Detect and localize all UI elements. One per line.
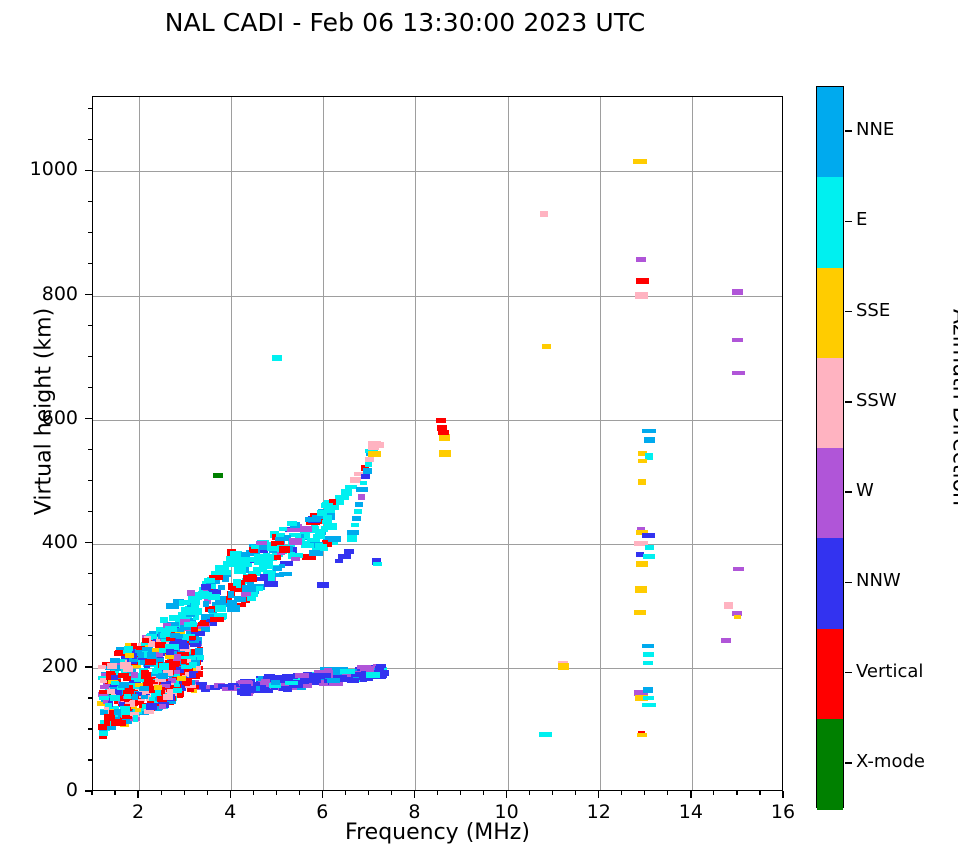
colorbar-title: Azimuth Direction [948, 258, 958, 558]
data-point [732, 338, 743, 342]
colorbar-label-sse: SSE [856, 300, 890, 321]
data-point [643, 652, 654, 657]
data-point [159, 663, 169, 670]
colorbar-label-ssw: SSW [856, 390, 897, 411]
x-tick-label: 2 [103, 801, 173, 823]
colorbar-tick [845, 311, 852, 312]
data-point [733, 567, 744, 571]
data-point [540, 211, 548, 217]
x-tick-minor [368, 791, 369, 795]
data-point [289, 533, 302, 537]
data-point [210, 617, 224, 622]
plot-area [92, 96, 783, 791]
data-point [98, 724, 107, 730]
data-point [166, 603, 179, 609]
x-axis-title: Frequency (MHz) [92, 820, 783, 845]
plot-canvas [93, 97, 782, 790]
data-point [638, 479, 646, 485]
data-point [287, 528, 296, 532]
data-point [238, 680, 252, 684]
data-point [633, 159, 647, 164]
data-point [356, 487, 368, 492]
data-point [247, 596, 256, 601]
x-tick-label: 4 [195, 801, 265, 823]
data-point [265, 562, 272, 569]
data-point [439, 450, 451, 457]
data-point [301, 543, 314, 548]
data-point [634, 610, 646, 615]
data-point [637, 733, 647, 737]
x-tick-label: 12 [564, 801, 634, 823]
data-point [200, 620, 206, 625]
x-tick-label: 16 [748, 801, 818, 823]
data-point [638, 459, 647, 463]
data-point [110, 695, 120, 701]
data-point [203, 601, 209, 607]
data-point [355, 502, 363, 507]
colorbar-segment-ssw [817, 358, 843, 449]
y-tick-minor [88, 728, 92, 729]
x-tick-minor [184, 791, 185, 795]
data-point [259, 545, 267, 550]
data-point [324, 523, 337, 530]
data-point [307, 538, 320, 542]
data-point [352, 516, 361, 521]
data-point [279, 527, 287, 531]
data-point [179, 600, 190, 605]
y-tick-major [85, 170, 92, 171]
data-point [184, 681, 190, 686]
data-point [120, 662, 131, 669]
data-point [181, 659, 187, 664]
data-point [366, 672, 380, 678]
x-tick-label: 10 [472, 801, 542, 823]
data-point [279, 546, 290, 553]
data-point [241, 686, 256, 691]
data-point [243, 575, 257, 582]
colorbar-tick [845, 130, 852, 131]
data-point [309, 550, 323, 556]
data-point [124, 694, 131, 699]
y-tick-label: 600 [8, 407, 78, 429]
x-tick-minor [759, 791, 760, 795]
data-point [347, 535, 357, 542]
x-tick-minor [299, 791, 300, 795]
data-point [141, 674, 150, 679]
data-point [201, 615, 207, 620]
data-point [174, 670, 180, 674]
colorbar-segment-nne [817, 87, 843, 178]
data-point [236, 557, 246, 562]
data-point [161, 629, 168, 634]
data-point [376, 664, 386, 668]
data-point [185, 609, 196, 615]
colorbar-tick [845, 401, 852, 402]
x-tick-major [230, 791, 231, 798]
data-point [254, 554, 265, 560]
grid-line-vertical [692, 97, 693, 790]
y-tick-minor [88, 697, 92, 698]
data-point [114, 709, 121, 715]
x-tick-minor [207, 791, 208, 795]
y-tick-minor [88, 759, 92, 760]
data-point [132, 694, 138, 700]
colorbar-segment-sse [817, 268, 843, 359]
y-tick-minor [88, 511, 92, 512]
grid-line-horizontal [93, 296, 782, 297]
data-point [317, 510, 324, 516]
data-point [208, 609, 214, 613]
data-point [143, 679, 153, 686]
data-point [642, 533, 655, 538]
data-point [271, 680, 280, 685]
data-point [635, 586, 647, 593]
data-point [111, 681, 119, 685]
x-tick-major [506, 791, 507, 798]
colorbar-label-w: W [856, 480, 874, 501]
y-tick-minor [88, 108, 92, 109]
colorbar-segment-x-mode [817, 719, 843, 810]
data-point [368, 451, 381, 457]
x-tick-minor [276, 791, 277, 795]
data-point [118, 682, 129, 688]
y-tick-label: 200 [8, 655, 78, 677]
y-tick-minor [88, 139, 92, 140]
data-point [291, 557, 300, 561]
data-point [107, 663, 117, 669]
data-point [131, 672, 138, 678]
data-point [100, 685, 109, 689]
data-point [105, 703, 112, 707]
x-tick-major [137, 791, 138, 798]
data-point [184, 622, 197, 627]
data-point [317, 582, 329, 588]
y-tick-minor [88, 232, 92, 233]
data-point [187, 590, 195, 596]
grid-line-horizontal [93, 171, 782, 172]
data-point [285, 681, 298, 685]
data-point [138, 652, 144, 658]
colorbar-label-nnw: NNW [856, 570, 901, 591]
data-point [227, 600, 237, 605]
data-point [144, 709, 154, 714]
x-tick-minor [114, 791, 115, 795]
colorbar-label-nne: NNE [856, 119, 894, 140]
data-point [213, 473, 223, 478]
x-tick-major [598, 791, 599, 798]
y-tick-major [85, 542, 92, 543]
data-point [636, 257, 646, 262]
data-point [264, 581, 278, 587]
data-point [345, 485, 357, 489]
colorbar-segment-nnw [817, 538, 843, 629]
x-tick-label: 14 [656, 801, 726, 823]
x-tick-minor [575, 791, 576, 795]
x-tick-label: 8 [379, 801, 449, 823]
data-point [218, 585, 225, 590]
colorbar-segment-vertical [817, 629, 843, 720]
grid-line-vertical [508, 97, 509, 790]
x-tick-minor [736, 791, 737, 795]
data-point [133, 715, 138, 722]
x-tick-minor [483, 791, 484, 795]
x-tick-minor [713, 791, 714, 795]
data-point [217, 570, 231, 575]
y-tick-minor [88, 635, 92, 636]
data-point [146, 703, 157, 710]
x-tick-minor [552, 791, 553, 795]
y-tick-minor [88, 480, 92, 481]
data-point [267, 547, 277, 551]
data-point [99, 696, 109, 700]
data-point [724, 602, 733, 609]
data-point [287, 521, 297, 526]
data-point [99, 731, 108, 736]
data-point [358, 494, 365, 500]
colorbar-segment-e [817, 177, 843, 268]
data-point [436, 418, 446, 423]
data-point [361, 474, 370, 479]
data-point [272, 355, 282, 361]
page-title: NAL CADI - Feb 06 13:30:00 2023 UTC [0, 8, 810, 37]
data-point [204, 578, 215, 583]
grid-line-vertical [600, 97, 601, 790]
data-point [642, 644, 654, 648]
data-point [351, 523, 359, 527]
x-tick-minor [161, 791, 162, 795]
data-point [635, 292, 648, 299]
data-point [439, 434, 450, 441]
data-point [542, 344, 551, 349]
x-tick-minor [460, 791, 461, 795]
data-point [347, 530, 359, 535]
data-point [645, 545, 654, 550]
data-point [159, 704, 166, 709]
grid-line-horizontal [93, 544, 782, 545]
data-point [98, 665, 106, 669]
data-point [135, 708, 141, 712]
data-point [234, 567, 246, 574]
x-tick-minor [529, 791, 530, 795]
data-point [255, 586, 263, 591]
data-point [189, 636, 196, 640]
data-point [163, 694, 173, 700]
data-point [148, 641, 155, 647]
data-point [539, 732, 552, 737]
data-point [233, 579, 241, 586]
data-point [335, 559, 343, 563]
grid-line-vertical [415, 97, 416, 790]
y-tick-minor [88, 356, 92, 357]
data-point [344, 549, 354, 554]
x-tick-major [414, 791, 415, 798]
x-tick-minor [621, 791, 622, 795]
data-point [321, 503, 333, 508]
colorbar-tick [845, 491, 852, 492]
y-tick-minor [88, 263, 92, 264]
data-point [191, 603, 199, 609]
data-point [341, 489, 352, 496]
data-point [279, 564, 285, 568]
data-point [155, 690, 161, 696]
data-point [373, 562, 382, 566]
y-tick-minor [88, 325, 92, 326]
x-tick-minor [437, 791, 438, 795]
data-point [360, 481, 367, 485]
data-point [642, 429, 656, 433]
data-point [141, 695, 148, 699]
x-tick-major [322, 791, 323, 798]
y-tick-label: 400 [8, 531, 78, 553]
data-point [142, 638, 149, 643]
x-tick-minor [253, 791, 254, 795]
colorbar-label-vertical: Vertical [856, 661, 923, 682]
data-point [263, 689, 273, 693]
y-tick-label: 1000 [8, 158, 78, 180]
data-point [125, 653, 134, 658]
data-point [222, 577, 229, 582]
data-point [111, 675, 118, 680]
data-point [166, 649, 174, 655]
data-point [374, 442, 384, 448]
data-point [115, 650, 123, 655]
data-point [196, 666, 201, 671]
x-tick-label: 6 [287, 801, 357, 823]
data-point [734, 615, 741, 619]
data-point [130, 700, 135, 707]
y-tick-minor [88, 201, 92, 202]
y-tick-major [85, 294, 92, 295]
data-point [338, 554, 351, 559]
data-point [721, 638, 731, 643]
x-tick-minor [391, 791, 392, 795]
data-point [158, 673, 168, 679]
data-point [309, 673, 325, 679]
data-point [173, 654, 181, 661]
data-point [289, 538, 302, 545]
data-point [242, 585, 256, 592]
data-point [274, 555, 281, 560]
x-tick-minor [644, 791, 645, 795]
data-point [340, 677, 351, 682]
data-point [227, 605, 240, 612]
data-point [111, 719, 121, 726]
data-point [643, 687, 653, 693]
data-point [173, 688, 182, 693]
data-point [195, 648, 203, 655]
y-tick-label: 0 [8, 779, 78, 801]
data-point [643, 661, 653, 665]
data-point [644, 437, 655, 443]
data-point [201, 584, 211, 590]
data-point [636, 561, 648, 567]
data-point [145, 659, 156, 665]
data-point [275, 573, 284, 577]
x-tick-major [690, 791, 691, 798]
colorbar-tick [845, 221, 852, 222]
colorbar-tick [845, 582, 852, 583]
data-point [328, 536, 341, 542]
colorbar-tick [845, 672, 852, 673]
y-tick-label: 800 [8, 283, 78, 305]
data-point [118, 673, 129, 678]
data-point [340, 669, 355, 674]
colorbar-tick [845, 762, 852, 763]
colorbar-label-x-mode: X-mode [856, 751, 925, 772]
y-tick-major [85, 666, 92, 667]
data-point [360, 667, 368, 671]
data-point [189, 671, 196, 678]
data-point [643, 696, 654, 700]
data-point [327, 678, 340, 683]
y-tick-minor [88, 387, 92, 388]
data-point [302, 526, 312, 532]
data-point [365, 462, 372, 467]
data-point [215, 605, 226, 612]
y-tick-minor [88, 604, 92, 605]
x-tick-major [782, 791, 783, 798]
data-point [365, 457, 374, 462]
colorbar-label-e: E [856, 209, 867, 230]
data-point [318, 544, 327, 550]
data-point [171, 634, 183, 638]
data-point [558, 663, 569, 670]
x-tick-minor [345, 791, 346, 795]
data-point [363, 468, 372, 474]
data-point [324, 668, 332, 673]
y-tick-major [85, 790, 92, 791]
y-tick-major [85, 418, 92, 419]
data-point [732, 371, 745, 375]
data-point [354, 509, 362, 514]
data-point [732, 289, 743, 295]
y-tick-minor [88, 573, 92, 574]
x-tick-minor [667, 791, 668, 795]
data-point [439, 430, 449, 435]
y-tick-minor [88, 449, 92, 450]
data-point [636, 278, 649, 284]
colorbar [816, 86, 844, 808]
data-point [154, 685, 162, 690]
data-point [642, 703, 656, 707]
colorbar-segment-w [817, 448, 843, 539]
data-point [643, 554, 655, 559]
